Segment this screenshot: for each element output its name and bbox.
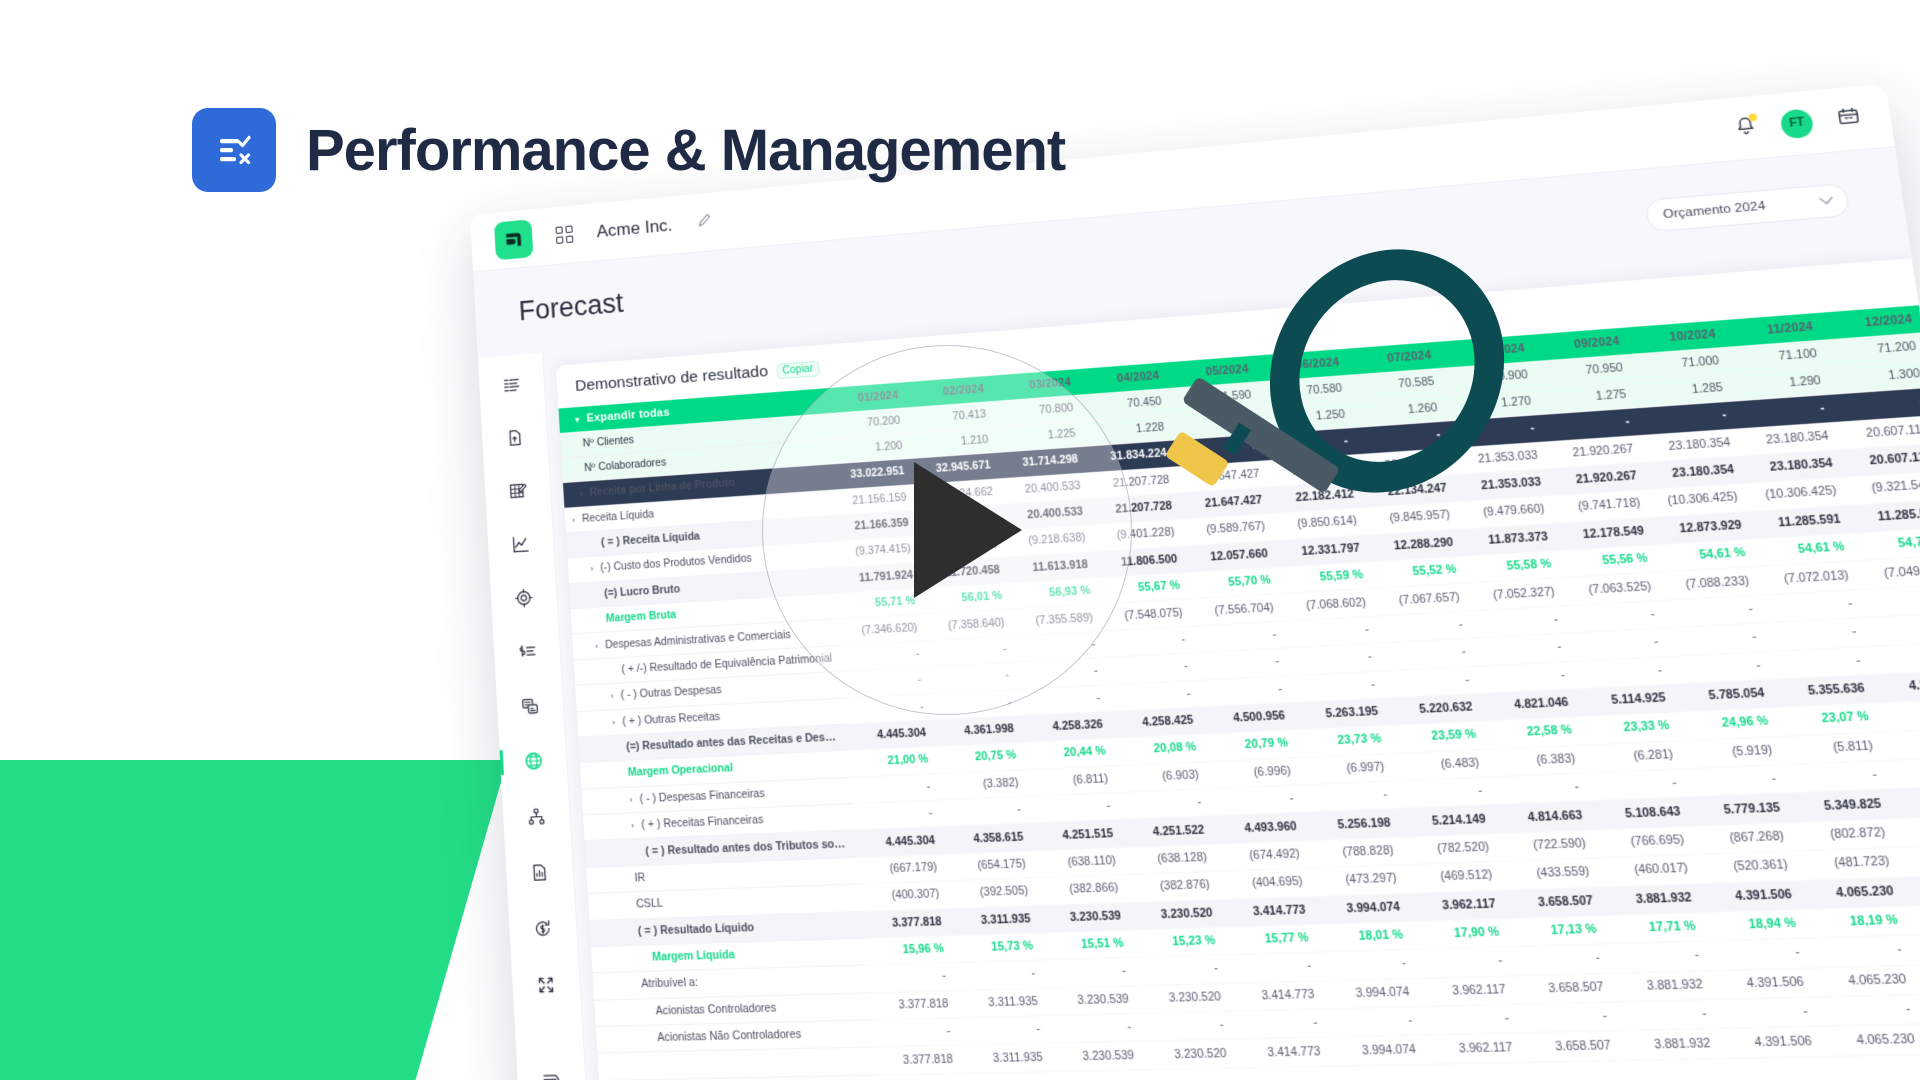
statement-table-card: Demonstrativo de resultado Copiar ▾Expan…: [556, 258, 1920, 1080]
cell-value: 18,19 %: [1803, 906, 1909, 938]
cell-value: -: [1133, 955, 1228, 985]
budget-selector[interactable]: Orçamento 2024: [1644, 183, 1850, 233]
cell-value: -: [1614, 1000, 1717, 1031]
copy-chip[interactable]: Copiar: [776, 360, 820, 379]
row-label-text: Atribuível a:: [641, 977, 698, 991]
row-label-text: ( + ) Receitas Financeiras: [641, 815, 764, 832]
row-expand-caret-icon[interactable]: ›: [612, 717, 615, 727]
row-label-text: CSLL: [636, 898, 663, 911]
expand-all-label: Expandir todas: [586, 407, 670, 426]
cell-value: -: [1509, 944, 1610, 975]
cell-value: 3.311.935: [948, 905, 1039, 935]
cell-value: -: [1042, 958, 1135, 988]
cell-value: 3.658.507: [1513, 973, 1614, 1004]
cell-value: (382.866): [1035, 875, 1128, 906]
cell-value: 17,90 %: [1410, 918, 1509, 949]
cell-value: 3.881.932: [1610, 970, 1713, 1002]
chevron-down-icon: [1819, 192, 1833, 204]
cell-value: 5.220.632: [1385, 693, 1483, 725]
cell-value: 4.445.304: [846, 720, 935, 751]
cell-value: 5.263.195: [1292, 698, 1388, 730]
expand-caret-icon: ▾: [575, 415, 580, 424]
cell-value: 4.251.522: [1120, 816, 1214, 847]
cell-value: (867.268): [1691, 822, 1795, 854]
cell-value: (638.128): [1122, 844, 1216, 875]
cell-value: (788.828): [1306, 837, 1403, 868]
row-label-text: ( = ) Resultado Líquido: [638, 922, 755, 938]
money-list-icon[interactable]: [509, 635, 545, 668]
cell-value: 3.658.507: [1502, 887, 1603, 919]
cell-value: -: [1884, 756, 1920, 789]
cell-value: 3.311.935: [955, 988, 1047, 1018]
cell-value: 17,71 %: [1603, 912, 1706, 944]
cell-value: 15,77 %: [1222, 924, 1318, 955]
cell-value: 4.500.956: [1200, 702, 1295, 734]
cell-value: -: [1225, 952, 1321, 983]
row-expand-caret-icon[interactable]: ›: [629, 795, 632, 805]
cell-value: 18,01 %: [1315, 921, 1413, 952]
cell-value: -: [1300, 781, 1397, 813]
cell-value: 3.881.932: [1618, 1029, 1722, 1060]
cell-value: 4.391.506: [1698, 880, 1802, 912]
cell-value: 20,75 %: [935, 742, 1025, 773]
cell-value: 15,73 %: [950, 933, 1042, 963]
row-label-text: IR: [634, 872, 645, 884]
checklist-tasks-icon: [192, 108, 276, 192]
grid-apps-icon[interactable]: [555, 225, 573, 243]
cell-value: 3.230.539: [1045, 985, 1139, 1015]
cell-value: 3.311.935: [960, 1043, 1052, 1073]
cell-value: (3.382): [937, 769, 1028, 800]
cell-value: 4.358.615: [941, 823, 1032, 854]
cell-value: 18,94 %: [1702, 909, 1806, 941]
cell-value: (766.695): [1593, 826, 1695, 858]
list-view-icon[interactable]: [494, 368, 529, 401]
cell-value: 4.258.425: [1110, 707, 1203, 738]
cell-value: 3.214.543: [1900, 873, 1920, 906]
row-expand-caret-icon[interactable]: ›: [631, 821, 634, 831]
app-body: Demonstrativo de resultado Copiar ▾Expan…: [478, 243, 1920, 1080]
cell-value: 5.108.643: [1589, 797, 1691, 829]
cell-value: -: [1489, 773, 1589, 805]
document-chart-icon[interactable]: [521, 855, 558, 889]
cell-value: 4.361.998: [933, 716, 1023, 747]
cell-value: (782.520): [1400, 833, 1499, 865]
app-logo-icon[interactable]: [494, 219, 533, 260]
cell-value: (382.876): [1125, 871, 1219, 902]
cell-value: -: [1047, 1013, 1141, 1043]
cell-value: (473.297): [1309, 865, 1406, 896]
row-label-text: Margem Bruta: [606, 610, 677, 626]
row-label-text: Receita por Linha de Produto: [589, 478, 735, 499]
cell-value: (400.307): [858, 881, 948, 911]
cell-value: (674.492): [1214, 840, 1310, 871]
cell-value: 4.230.499: [1888, 785, 1920, 818]
cell-value: 20,08 %: [1112, 734, 1205, 765]
cell-value: 4.493.960: [1211, 813, 1306, 844]
cell-value: 3.377.818: [867, 990, 958, 1020]
cell-value: 20,44 %: [1023, 738, 1115, 769]
cell-value: -: [1783, 760, 1888, 793]
cell-value: (404.695): [1216, 868, 1312, 899]
pencil-edit-icon[interactable]: [696, 211, 713, 232]
cell-value: 4.391.506: [1717, 1027, 1822, 1059]
cell-value: 23,33 %: [1579, 712, 1680, 745]
cell-value: (667.179): [856, 854, 946, 884]
spreadsheet-edit-icon[interactable]: [500, 474, 536, 507]
forecast-title: Forecast: [518, 287, 624, 327]
avatar[interactable]: FT: [1779, 108, 1814, 139]
cell-value: 3.230.520: [1128, 899, 1222, 930]
cell-value: -: [1859, 584, 1920, 618]
report-copy-icon[interactable]: [512, 689, 548, 722]
cell-value: (638.110): [1032, 847, 1125, 878]
cell-value: (802.872): [1791, 818, 1897, 851]
cell-value: 3.230.520: [1141, 1039, 1236, 1069]
cell-value: 3.414.773: [1219, 896, 1315, 927]
cell-value: (6.903): [1115, 761, 1209, 792]
cell-value: 23,07 %: [1775, 703, 1880, 736]
cell-value: -: [1138, 1011, 1233, 1041]
cell-value: (6.996): [1205, 757, 1300, 788]
cell-value: 4.065.230: [1799, 877, 1905, 909]
cell-value: 20,79 %: [1203, 730, 1298, 762]
cell-value: 4.821.046: [1479, 689, 1578, 721]
row-label-text: Acionistas Controladores: [655, 1002, 776, 1017]
line-chart-icon[interactable]: [503, 527, 539, 560]
row-expand-caret-icon[interactable]: ›: [572, 515, 575, 524]
cell-value: -: [957, 1016, 1049, 1046]
org-chart-icon[interactable]: [518, 800, 555, 833]
row-label-text: Nº Clientes: [582, 434, 634, 449]
cell-value: -: [1324, 1007, 1422, 1038]
bell-notification-icon[interactable]: [1733, 114, 1759, 142]
cell-value: 3.414.773: [1233, 1037, 1330, 1067]
cell-value: 21,00 %: [848, 746, 937, 777]
cell-value: (392.505): [946, 878, 1037, 908]
cell-value: 5.355.636: [1771, 674, 1875, 707]
cell-value: 4.065.230: [1811, 965, 1918, 997]
cell-value: 3.230.539: [1037, 902, 1130, 932]
cell-value: (5.919): [1680, 736, 1783, 769]
cell-value: (469.512): [1403, 861, 1502, 893]
table-caption-text: Demonstrativo de resultado: [575, 363, 769, 396]
cell-value: 3.962.117: [1423, 1033, 1523, 1064]
row-label-text: Acionistas Não Controladores: [657, 1029, 802, 1045]
cell-value: (380.984): [1896, 844, 1920, 877]
cell-value: (5.811): [1779, 732, 1884, 765]
cell-value: 3.414.773: [1228, 981, 1325, 1012]
cell-value: 15,23 %: [1130, 927, 1225, 958]
cell-value: 5.349.825: [1787, 789, 1892, 822]
row-expand-caret-icon[interactable]: ›: [580, 489, 583, 498]
cell-value: -: [1318, 950, 1416, 981]
cell-value: 5.214.149: [1397, 805, 1496, 837]
cell-value: 17,13 %: [1506, 915, 1607, 947]
cell-value: 3.377.818: [871, 1045, 962, 1074]
row-label-text: (=) Resultado antes das Receitas e Despe…: [626, 731, 848, 754]
row-label-text: ( + /-) Resultado de Equivalência Patrim…: [621, 653, 833, 676]
refresh-money-icon[interactable]: [524, 911, 561, 945]
row-label-text: (-) Custo dos Produtos Vendidos: [600, 554, 752, 575]
row-label-text: (=) Lucro Bruto: [604, 584, 680, 600]
cell-value: (634.973): [1892, 814, 1920, 847]
cell-value: -: [1714, 997, 1819, 1029]
cell-value: 4.445.304: [854, 827, 944, 857]
row-label-text: ( - ) Outras Despesas: [620, 685, 722, 702]
cell-value: 5.114.925: [1575, 684, 1676, 717]
cell-value: 5.779.135: [1687, 793, 1791, 826]
cell-value: 4.258.326: [1020, 711, 1112, 742]
cell-value: 15,51 %: [1040, 930, 1133, 960]
expand-icon[interactable]: [528, 968, 565, 1002]
cell-value: (6.483): [1391, 749, 1489, 781]
app-window: Acme Inc. FT Fo: [470, 84, 1920, 1080]
cell-value: 3.994.074: [1327, 1035, 1426, 1066]
cell-value: 3.658.507: [1519, 1031, 1621, 1062]
cell-value: 24,96 %: [1676, 708, 1779, 741]
cell-value: -: [1815, 995, 1920, 1027]
page-title: Performance & Management: [306, 117, 1065, 184]
row-expand-caret-icon[interactable]: ›: [595, 641, 598, 651]
cell-value: 3.881.932: [1600, 883, 1703, 915]
row-expand-caret-icon[interactable]: ›: [610, 692, 613, 702]
cell-value: -: [1867, 641, 1920, 675]
cell-value: -: [1516, 1002, 1618, 1033]
cell-value: 4.814.663: [1492, 801, 1592, 833]
cell-value: 4.251.515: [1030, 820, 1122, 851]
cell-value: -: [1413, 947, 1513, 978]
cell-value: -: [1706, 938, 1811, 970]
cell-value: 11.285.591: [1847, 499, 1920, 533]
cell-value: -: [1208, 785, 1303, 816]
cell-value: 22,58 %: [1483, 717, 1583, 749]
hero-title-block: Performance & Management: [192, 108, 1065, 192]
row-label-text: Receita Líquida: [582, 509, 655, 525]
cell-value: -: [865, 963, 955, 993]
cell-value: -: [1863, 612, 1920, 646]
cell-value: -: [1394, 777, 1492, 809]
cell-value: -: [939, 796, 1030, 827]
row-label-text: Margem Líquida: [652, 949, 735, 964]
cell-value: -: [1807, 935, 1913, 967]
cell-value: 5.785.054: [1672, 679, 1775, 712]
cell-value: 4.065.230: [1819, 1024, 1920, 1056]
cell-value: -: [1419, 1004, 1519, 1035]
cell-value: (433.559): [1499, 858, 1600, 890]
cell-value: -: [1683, 765, 1786, 798]
cell-value: -: [1028, 793, 1120, 824]
cell-value: (6.811): [1025, 765, 1117, 796]
cell-value: (7.049.390): [1855, 555, 1920, 589]
cell-value: -: [953, 960, 1045, 990]
row-label-text: ( - ) Despesas Financeiras: [639, 788, 765, 805]
cell-value: (9.321.540): [1843, 471, 1920, 505]
cell-value: 23,59 %: [1388, 721, 1486, 753]
row-label-text: Nº Colaboradores: [584, 457, 667, 474]
row-label-text: ( = ) Resultado antes dos Tributos sobre…: [645, 837, 856, 858]
cell-value: 23,73 %: [1295, 726, 1391, 758]
document-upload-icon[interactable]: [497, 421, 533, 454]
cell-value: (5.702): [1880, 727, 1920, 760]
decorative-green-wedge-left: [0, 760, 507, 1080]
cell-value: 15,96 %: [862, 935, 952, 965]
play-triangle: [914, 462, 1022, 598]
budget-selector-value: Orçamento 2024: [1662, 200, 1766, 222]
cell-value: (654.175): [944, 851, 1035, 881]
cell-value: 3.962.117: [1407, 890, 1506, 921]
cell-value: 5.256.198: [1303, 809, 1400, 840]
play-button-icon[interactable]: [762, 345, 1132, 715]
cell-value: -: [850, 773, 939, 803]
cell-value: (6.997): [1298, 753, 1395, 785]
globe-icon[interactable]: [515, 744, 551, 777]
calendar-icon[interactable]: [1835, 104, 1863, 134]
cell-value: (6.383): [1486, 745, 1586, 777]
cell-value: 3.230.520: [1135, 983, 1230, 1013]
cell-value: -: [852, 800, 941, 830]
target-icon[interactable]: [506, 581, 542, 614]
row-label-text: ( = ) Receita Líquida: [601, 531, 701, 549]
cell-value: 4.236.202: [1871, 670, 1920, 703]
cell-value: (481.723): [1795, 847, 1901, 880]
cell-value: -: [869, 1018, 960, 1048]
cell-value: 3.962.117: [1416, 976, 1516, 1007]
cell-value: (6.281): [1582, 740, 1683, 772]
cell-value: 4.391.506: [1710, 968, 1815, 1000]
row-expand-caret-icon[interactable]: ›: [590, 565, 593, 575]
cell-value: 3.994.074: [1312, 893, 1410, 924]
row-label-text: Margem Operacional: [628, 763, 734, 780]
org-name[interactable]: Acme Inc.: [596, 215, 673, 242]
row-label-text: Despesas Administrativas e Comerciais: [605, 629, 791, 651]
cell-value: 3.377.818: [860, 908, 950, 938]
cell-value: 3.994.074: [1321, 978, 1419, 1009]
magnifying-glass-icon: [1268, 252, 1506, 490]
cell-value: (460.017): [1596, 855, 1698, 887]
cell-value: 54,76 %: [1851, 527, 1920, 561]
row-label-text: ( + ) Outras Receitas: [622, 711, 721, 728]
topbar-actions: FT: [1732, 103, 1863, 143]
collapse-rail-icon[interactable]: [533, 1062, 570, 1080]
cell-value: 3.230.539: [1049, 1041, 1143, 1071]
cell-value: (722.590): [1496, 830, 1596, 862]
cell-value: -: [1586, 769, 1688, 801]
row-label: [597, 1047, 873, 1080]
cell-value: -: [1230, 1009, 1327, 1040]
cell-value: (520.361): [1695, 851, 1799, 883]
cell-value: 20,50 %: [1876, 698, 1920, 731]
cell-value: -: [1117, 789, 1211, 820]
cell-value: -: [1607, 941, 1710, 973]
notification-dot: [1748, 113, 1757, 121]
